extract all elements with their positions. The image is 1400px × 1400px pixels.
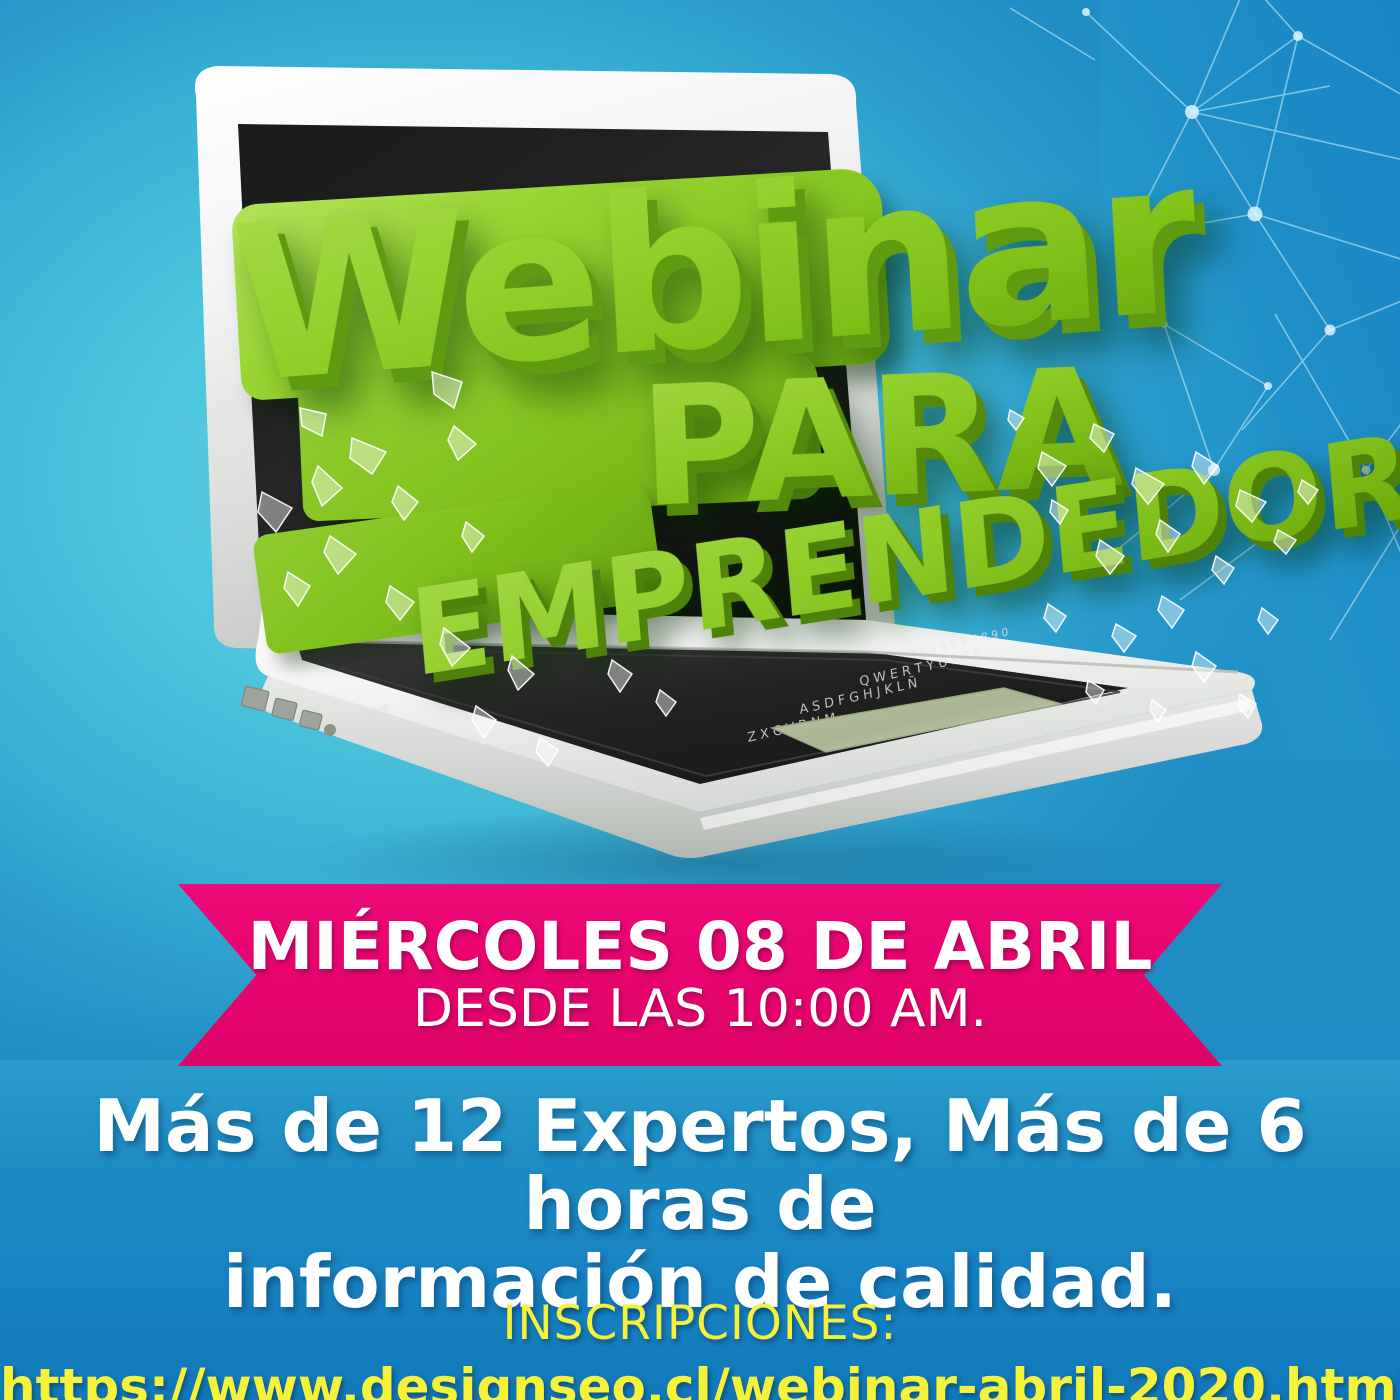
headline-line-1: Más de 12 Expertos, Más de 6 horas de xyxy=(18,1088,1382,1244)
event-date: MIÉRCOLES 08 DE ABRIL xyxy=(248,914,1153,980)
registration-url[interactable]: https://www.designseo.cl/webinar-abril-2… xyxy=(0,1358,1400,1400)
date-ribbon-banner: MIÉRCOLES 08 DE ABRIL DESDE LAS 10:00 AM… xyxy=(178,884,1222,1066)
headline-block: Más de 12 Expertos, Más de 6 horas de in… xyxy=(0,1088,1400,1321)
registration-label: INSCRIPCIONES: xyxy=(0,1296,1400,1351)
ribbon-text-group: MIÉRCOLES 08 DE ABRIL DESDE LAS 10:00 AM… xyxy=(178,884,1222,1066)
poster-canvas: Q W E R T Y U I O P A S D F G H J K L Ñ … xyxy=(0,0,1400,1400)
event-time: DESDE LAS 10:00 AM. xyxy=(413,982,987,1037)
